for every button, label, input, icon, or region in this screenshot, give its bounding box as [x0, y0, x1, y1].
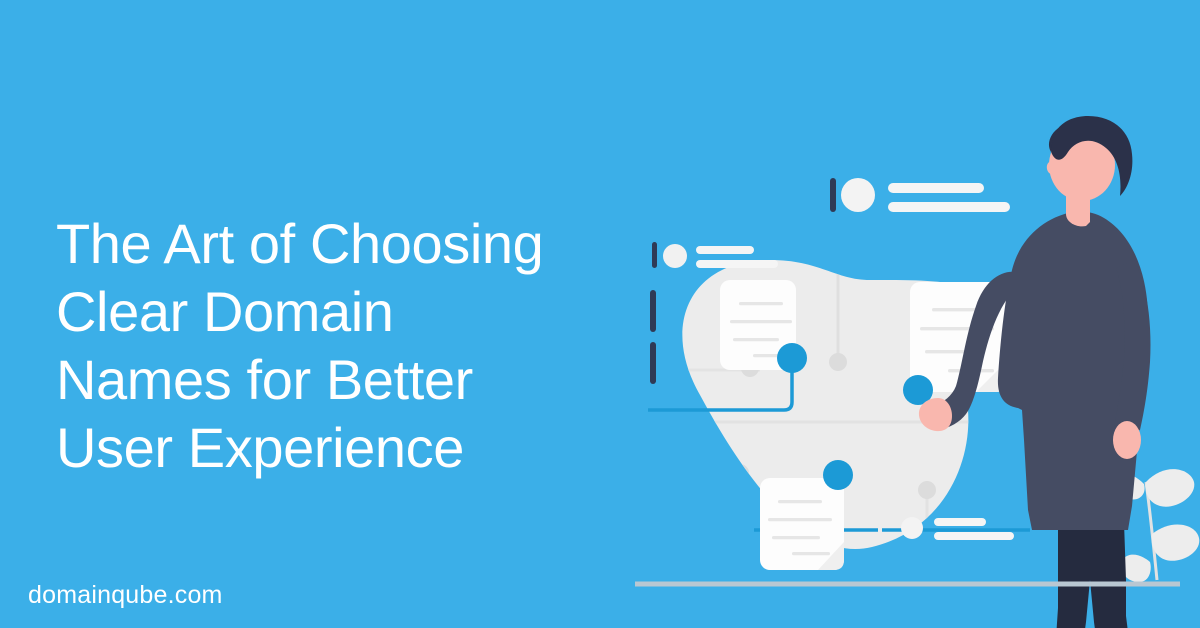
- person-pants: [1048, 522, 1132, 628]
- marker-line: [888, 202, 1010, 212]
- footer-domain-label: domainqube.com: [28, 581, 223, 610]
- marker-circle-icon: [901, 517, 923, 539]
- marker-circle-icon: [841, 178, 875, 212]
- illustration: [620, 110, 1200, 610]
- page-title: The Art of Choosing Clear Domain Names f…: [56, 210, 656, 482]
- document-card-left[interactable]: [720, 280, 807, 373]
- marker-dashes: [650, 290, 656, 384]
- marker-top-right: [830, 178, 1010, 212]
- marker-bar-icon: [830, 178, 836, 212]
- node-blue-left[interactable]: [777, 343, 807, 373]
- dash-lower-icon: [650, 342, 656, 384]
- marker-circle-icon: [663, 244, 687, 268]
- dash-upper-icon: [650, 290, 656, 332]
- node-blue-bottom[interactable]: [823, 460, 853, 490]
- marker-line: [696, 260, 778, 268]
- banner-root: The Art of Choosing Clear Domain Names f…: [0, 0, 1200, 628]
- marker-mid-left: [652, 242, 778, 268]
- marker-bar-icon: [652, 242, 657, 268]
- marker-line: [696, 246, 754, 254]
- marker-line: [888, 183, 984, 193]
- marker-line: [934, 518, 986, 526]
- marker-line: [934, 532, 1014, 540]
- person-hand-right: [1113, 421, 1141, 459]
